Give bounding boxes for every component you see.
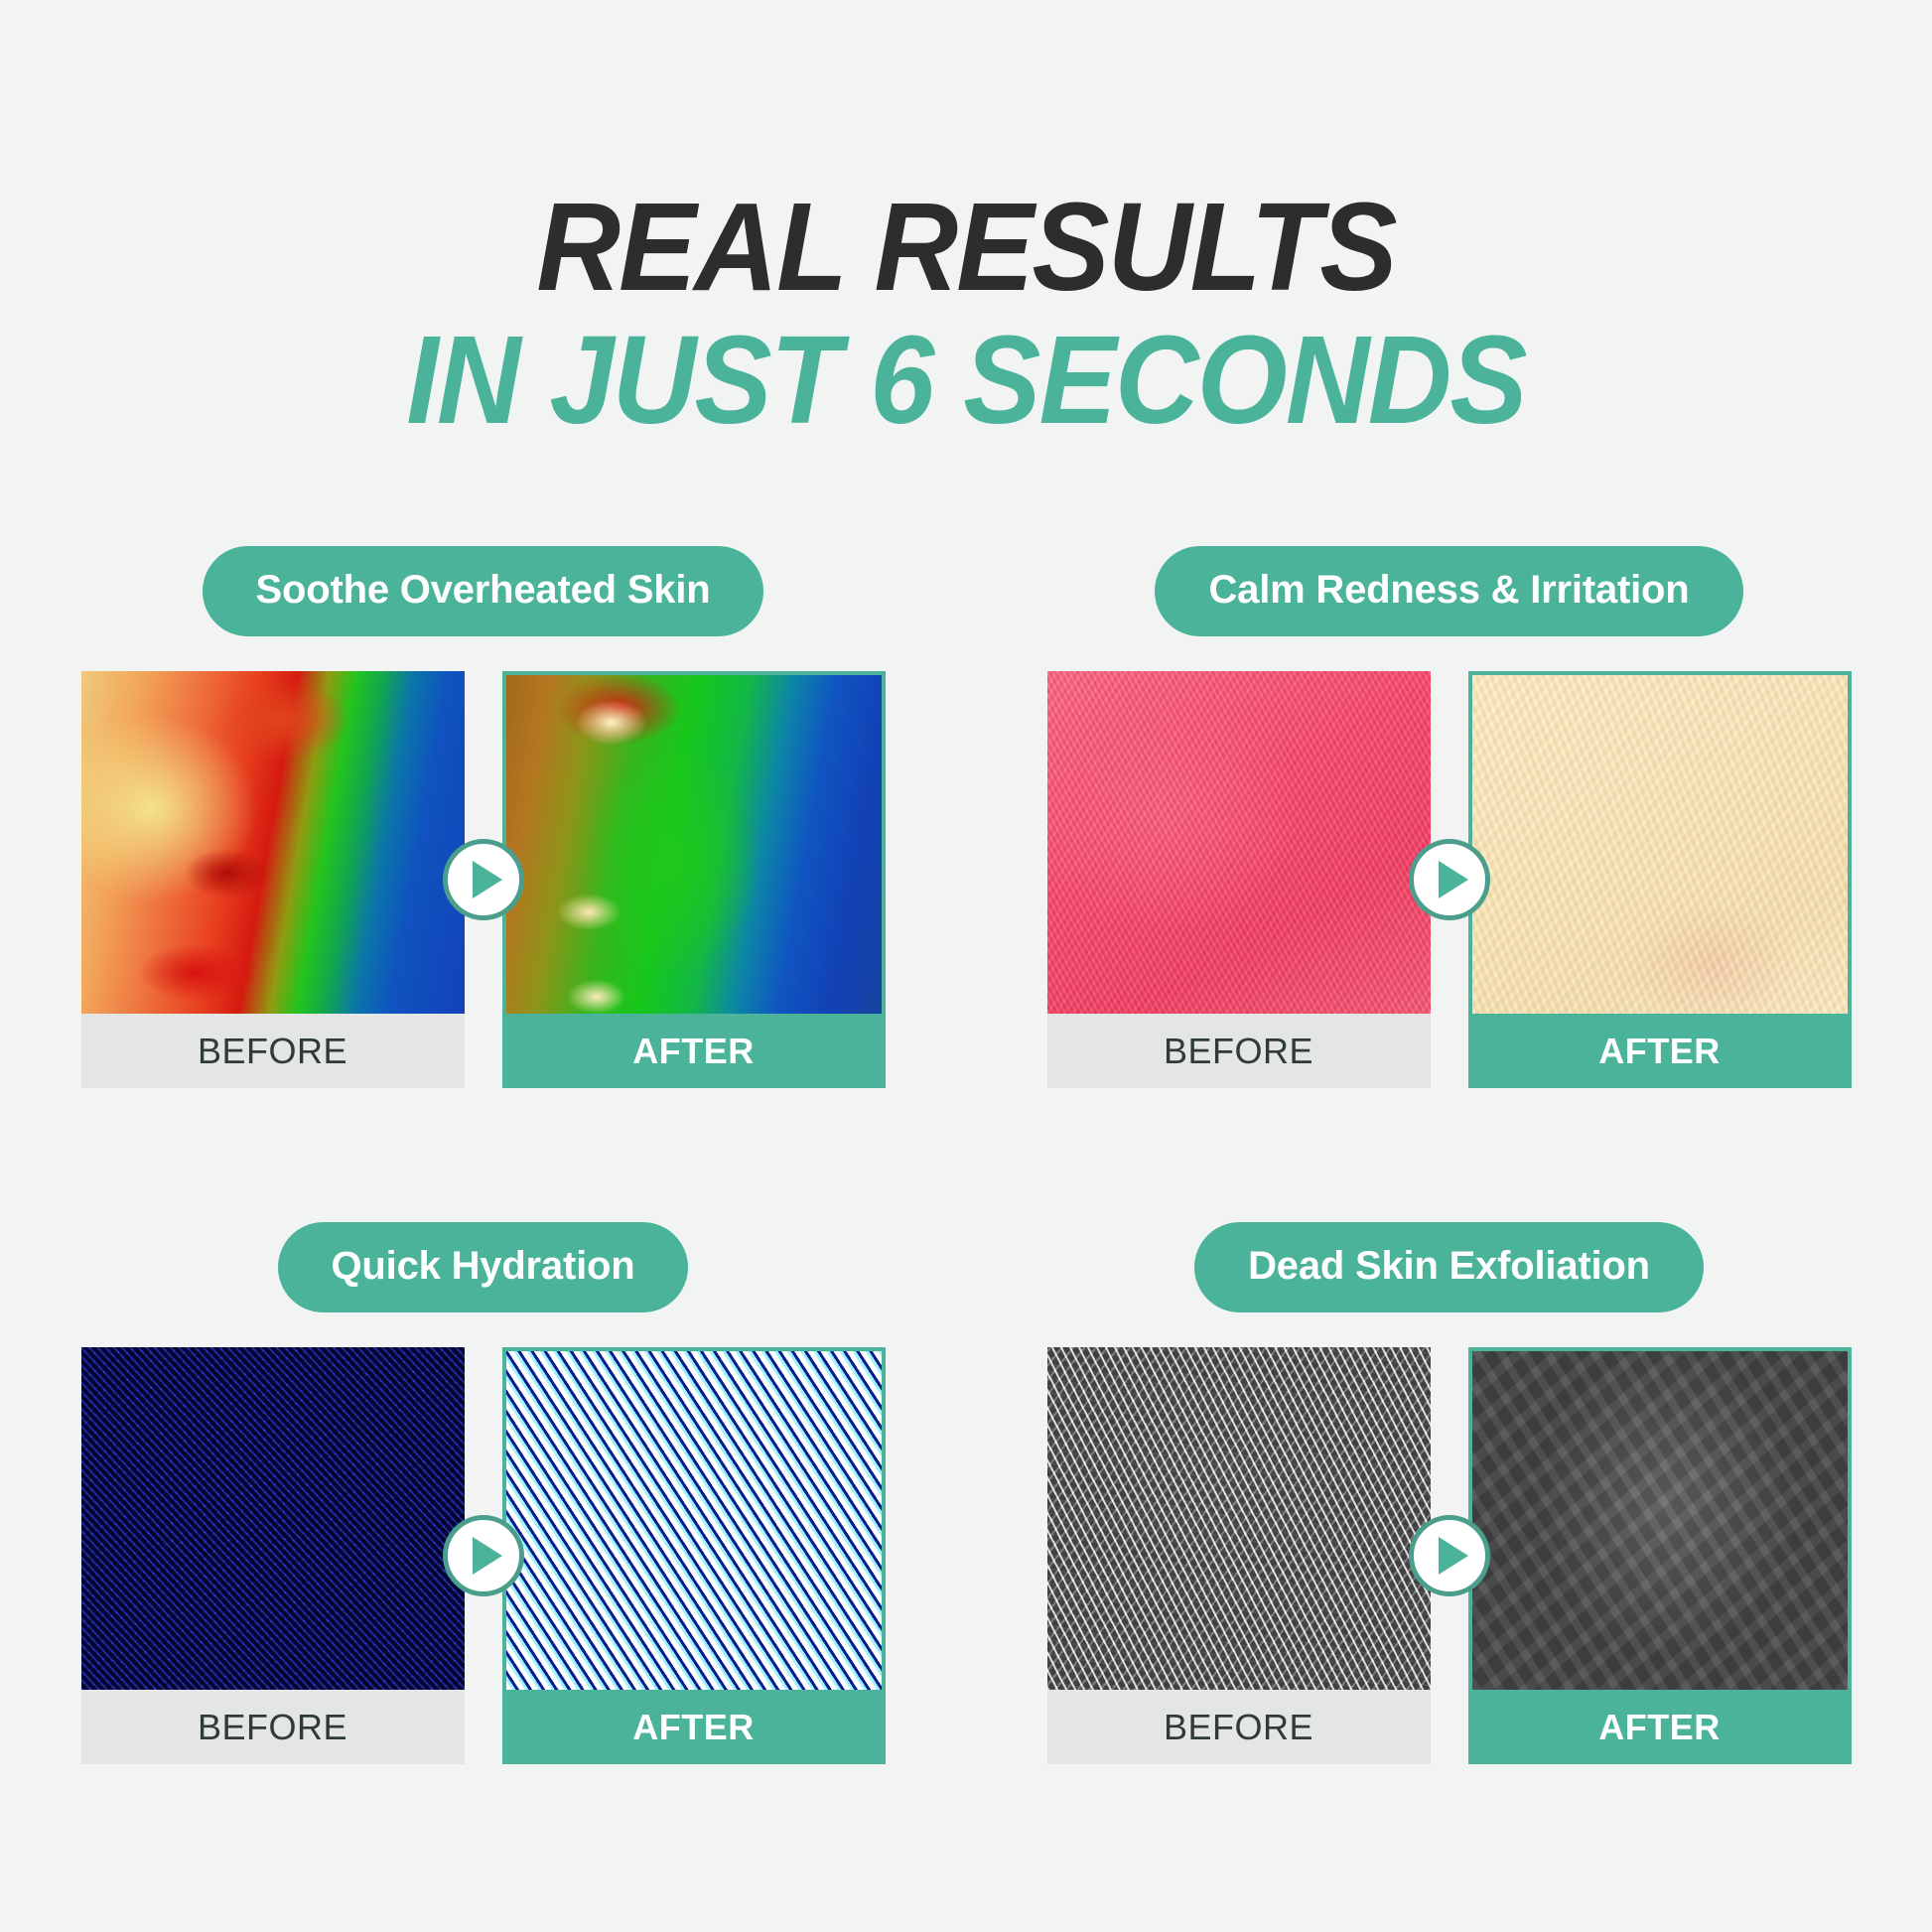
- feature-title-badge-hydration: Quick Hydration: [278, 1222, 689, 1312]
- play-icon[interactable]: [443, 839, 524, 920]
- promo-infographic: REAL RESULTS IN JUST 6 SECONDS Soothe Ov…: [0, 0, 1932, 1932]
- play-icon[interactable]: [443, 1515, 524, 1596]
- pill-wrap: Soothe Overheated Skin: [0, 546, 966, 636]
- after-caption: AFTER: [506, 1690, 882, 1764]
- feature-soothe-overheated-skin: Soothe Overheated Skin BEFORE AFTER: [0, 546, 966, 1088]
- after-image-skin-smooth: [1472, 1351, 1848, 1690]
- feature-title-badge-soothe: Soothe Overheated Skin: [203, 546, 764, 636]
- before-side: BEFORE: [81, 1347, 465, 1764]
- feature-calm-redness-irritation: Calm Redness & Irritation BEFORE AFTER: [966, 546, 1932, 1088]
- before-image-skin-red: [1047, 671, 1431, 1014]
- before-caption: BEFORE: [1047, 1690, 1431, 1764]
- headline-line-secondary: IN JUST 6 SECONDS: [68, 314, 1864, 447]
- pill-wrap: Calm Redness & Irritation: [966, 546, 1932, 636]
- pill-wrap: Dead Skin Exfoliation: [966, 1222, 1932, 1312]
- before-image-skin-flaky: [1047, 1347, 1431, 1690]
- after-caption: AFTER: [506, 1014, 882, 1088]
- play-icon[interactable]: [1409, 839, 1490, 920]
- after-side: AFTER: [502, 1347, 886, 1764]
- page-title: REAL RESULTS IN JUST 6 SECONDS: [0, 181, 1932, 446]
- headline-line-primary: REAL RESULTS: [68, 181, 1864, 314]
- feature-quick-hydration: Quick Hydration BEFORE AFTER: [0, 1222, 966, 1764]
- feature-title-badge-exfoliation: Dead Skin Exfoliation: [1194, 1222, 1704, 1312]
- after-side: AFTER: [502, 671, 886, 1088]
- before-side: BEFORE: [1047, 671, 1431, 1088]
- play-icon[interactable]: [1409, 1515, 1490, 1596]
- before-side: BEFORE: [1047, 1347, 1431, 1764]
- after-caption: AFTER: [1472, 1690, 1848, 1764]
- before-caption: BEFORE: [81, 1690, 465, 1764]
- before-caption: BEFORE: [1047, 1014, 1431, 1088]
- before-after-comparison-soothe[interactable]: BEFORE AFTER: [81, 671, 886, 1088]
- feature-dead-skin-exfoliation: Dead Skin Exfoliation BEFORE AFTER: [966, 1222, 1932, 1764]
- after-side: AFTER: [1468, 671, 1852, 1088]
- before-image-thermal-hot: [81, 671, 465, 1014]
- before-after-comparison-redness[interactable]: BEFORE AFTER: [1047, 671, 1852, 1088]
- after-image-thermal-cool: [506, 675, 882, 1014]
- before-side: BEFORE: [81, 671, 465, 1088]
- before-after-comparison-hydration[interactable]: BEFORE AFTER: [81, 1347, 886, 1764]
- after-image-hydration-bright: [506, 1351, 882, 1690]
- before-caption: BEFORE: [81, 1014, 465, 1088]
- pill-wrap: Quick Hydration: [0, 1222, 966, 1312]
- before-after-comparison-exfoliation[interactable]: BEFORE AFTER: [1047, 1347, 1852, 1764]
- before-image-hydration-dark: [81, 1347, 465, 1690]
- feature-grid: Soothe Overheated Skin BEFORE AFTER: [0, 546, 1932, 1764]
- after-caption: AFTER: [1472, 1014, 1848, 1088]
- after-image-skin-calm: [1472, 675, 1848, 1014]
- feature-title-badge-redness: Calm Redness & Irritation: [1155, 546, 1742, 636]
- after-side: AFTER: [1468, 1347, 1852, 1764]
